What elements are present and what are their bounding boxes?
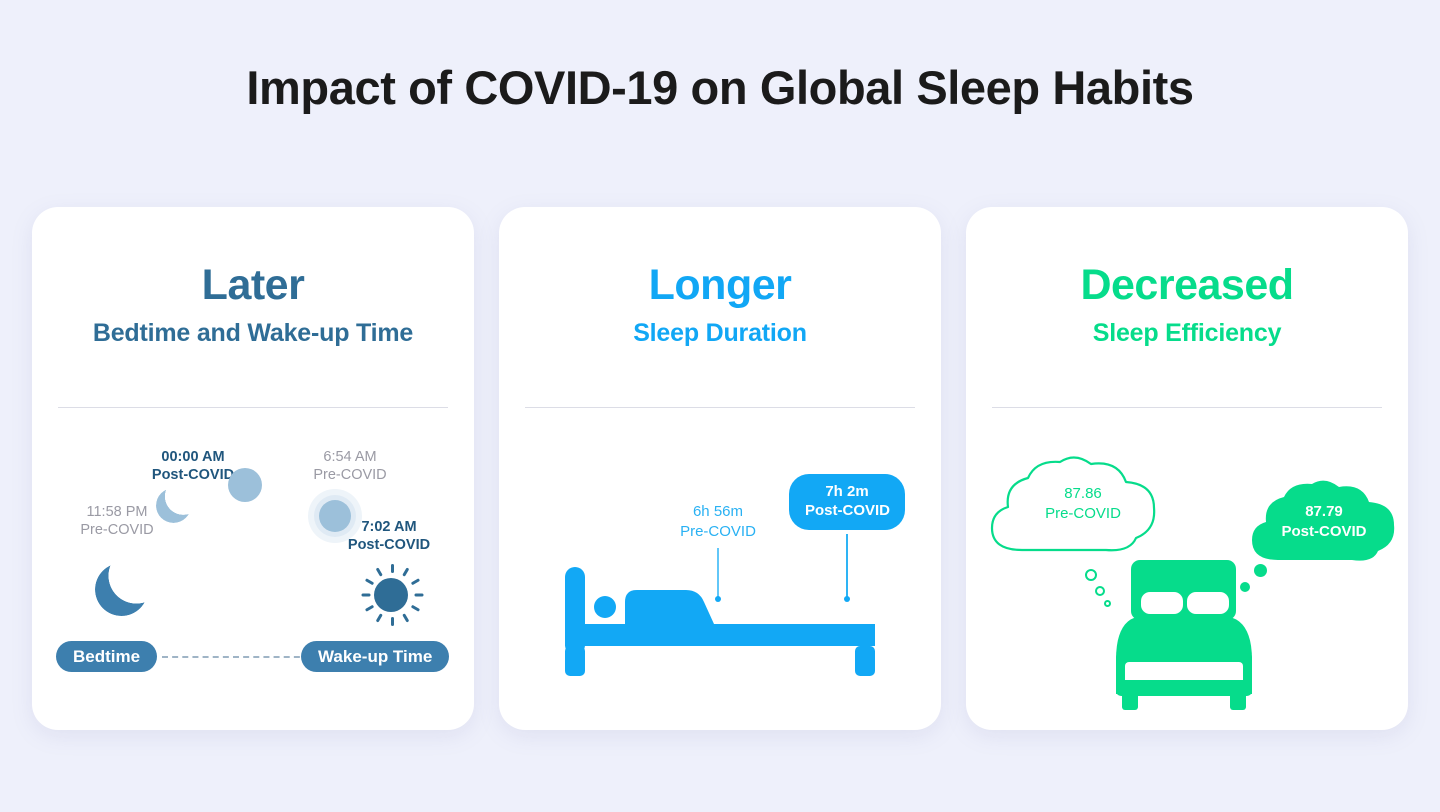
card-divider bbox=[992, 407, 1382, 408]
infographic-page: Impact of COVID-19 on Global Sleep Habit… bbox=[0, 0, 1440, 812]
card-sub-label: Bedtime and Wake-up Time bbox=[32, 318, 474, 348]
metric-value: 6:54 AM bbox=[285, 448, 415, 466]
page-title: Impact of COVID-19 on Global Sleep Habit… bbox=[0, 60, 1440, 115]
bed-front-icon bbox=[966, 412, 1408, 730]
card-big-label: Later bbox=[32, 263, 474, 309]
card-divider bbox=[58, 407, 448, 408]
metric-value: 00:00 AM bbox=[128, 448, 258, 466]
card-divider bbox=[525, 407, 915, 408]
card-sleep-duration: Longer Sleep Duration 6h 56m Pre-COVID 7… bbox=[499, 207, 941, 730]
card-big-label: Longer bbox=[499, 263, 941, 309]
card-heading: Longer Sleep Duration bbox=[499, 263, 941, 348]
card-illustration: 6h 56m Pre-COVID 7h 2m Post-COVID bbox=[499, 412, 941, 730]
pill-connector bbox=[162, 656, 310, 658]
card-illustration: 00:00 AM Post-COVID 6:54 AM Pre-COVID 11… bbox=[32, 412, 474, 730]
card-bedtime-wakeup: Later Bedtime and Wake-up Time 00:00 AM … bbox=[32, 207, 474, 730]
card-sub-label: Sleep Efficiency bbox=[966, 318, 1408, 348]
pill-bedtime[interactable]: Bedtime bbox=[56, 641, 157, 672]
card-row: Later Bedtime and Wake-up Time 00:00 AM … bbox=[32, 207, 1408, 730]
sun-icon bbox=[356, 560, 426, 630]
moon-icon bbox=[95, 563, 148, 616]
moon-icon-faded bbox=[156, 488, 191, 523]
pill-wakeup-time[interactable]: Wake-up Time bbox=[301, 641, 449, 672]
bed-side-icon bbox=[499, 412, 941, 730]
sun-icon-faded bbox=[319, 500, 351, 532]
card-heading: Later Bedtime and Wake-up Time bbox=[32, 263, 474, 348]
moon-icon-disc bbox=[228, 468, 262, 502]
card-sleep-efficiency: Decreased Sleep Efficiency 87.86 Pre-COV… bbox=[966, 207, 1408, 730]
metric-label-pre-wakeup: 6:54 AM Pre-COVID bbox=[285, 448, 415, 485]
metric-period: Pre-COVID bbox=[52, 521, 182, 539]
card-heading: Decreased Sleep Efficiency bbox=[966, 263, 1408, 348]
metric-period: Pre-COVID bbox=[285, 466, 415, 484]
card-illustration: 87.86 Pre-COVID 87.79 Post-COVID bbox=[966, 412, 1408, 730]
card-big-label: Decreased bbox=[966, 263, 1408, 309]
card-sub-label: Sleep Duration bbox=[499, 318, 941, 348]
